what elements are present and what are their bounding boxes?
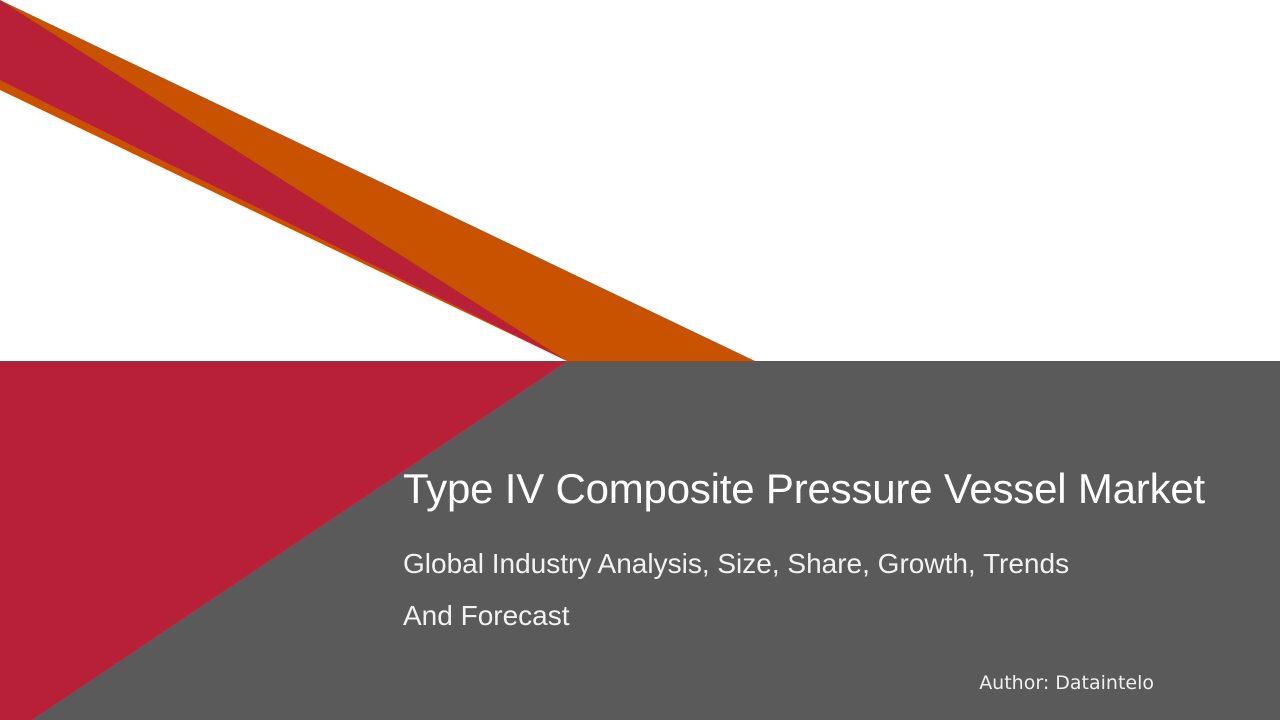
report-title: Type IV Composite Pressure Vessel Market <box>403 466 1233 512</box>
cover-text-layer: Type IV Composite Pressure Vessel Market… <box>0 0 1280 720</box>
report-cover-page: Type IV Composite Pressure Vessel Market… <box>0 0 1280 720</box>
report-subtitle: Global Industry Analysis, Size, Share, G… <box>403 538 1203 642</box>
report-author: Author: Dataintelo <box>403 670 1154 696</box>
